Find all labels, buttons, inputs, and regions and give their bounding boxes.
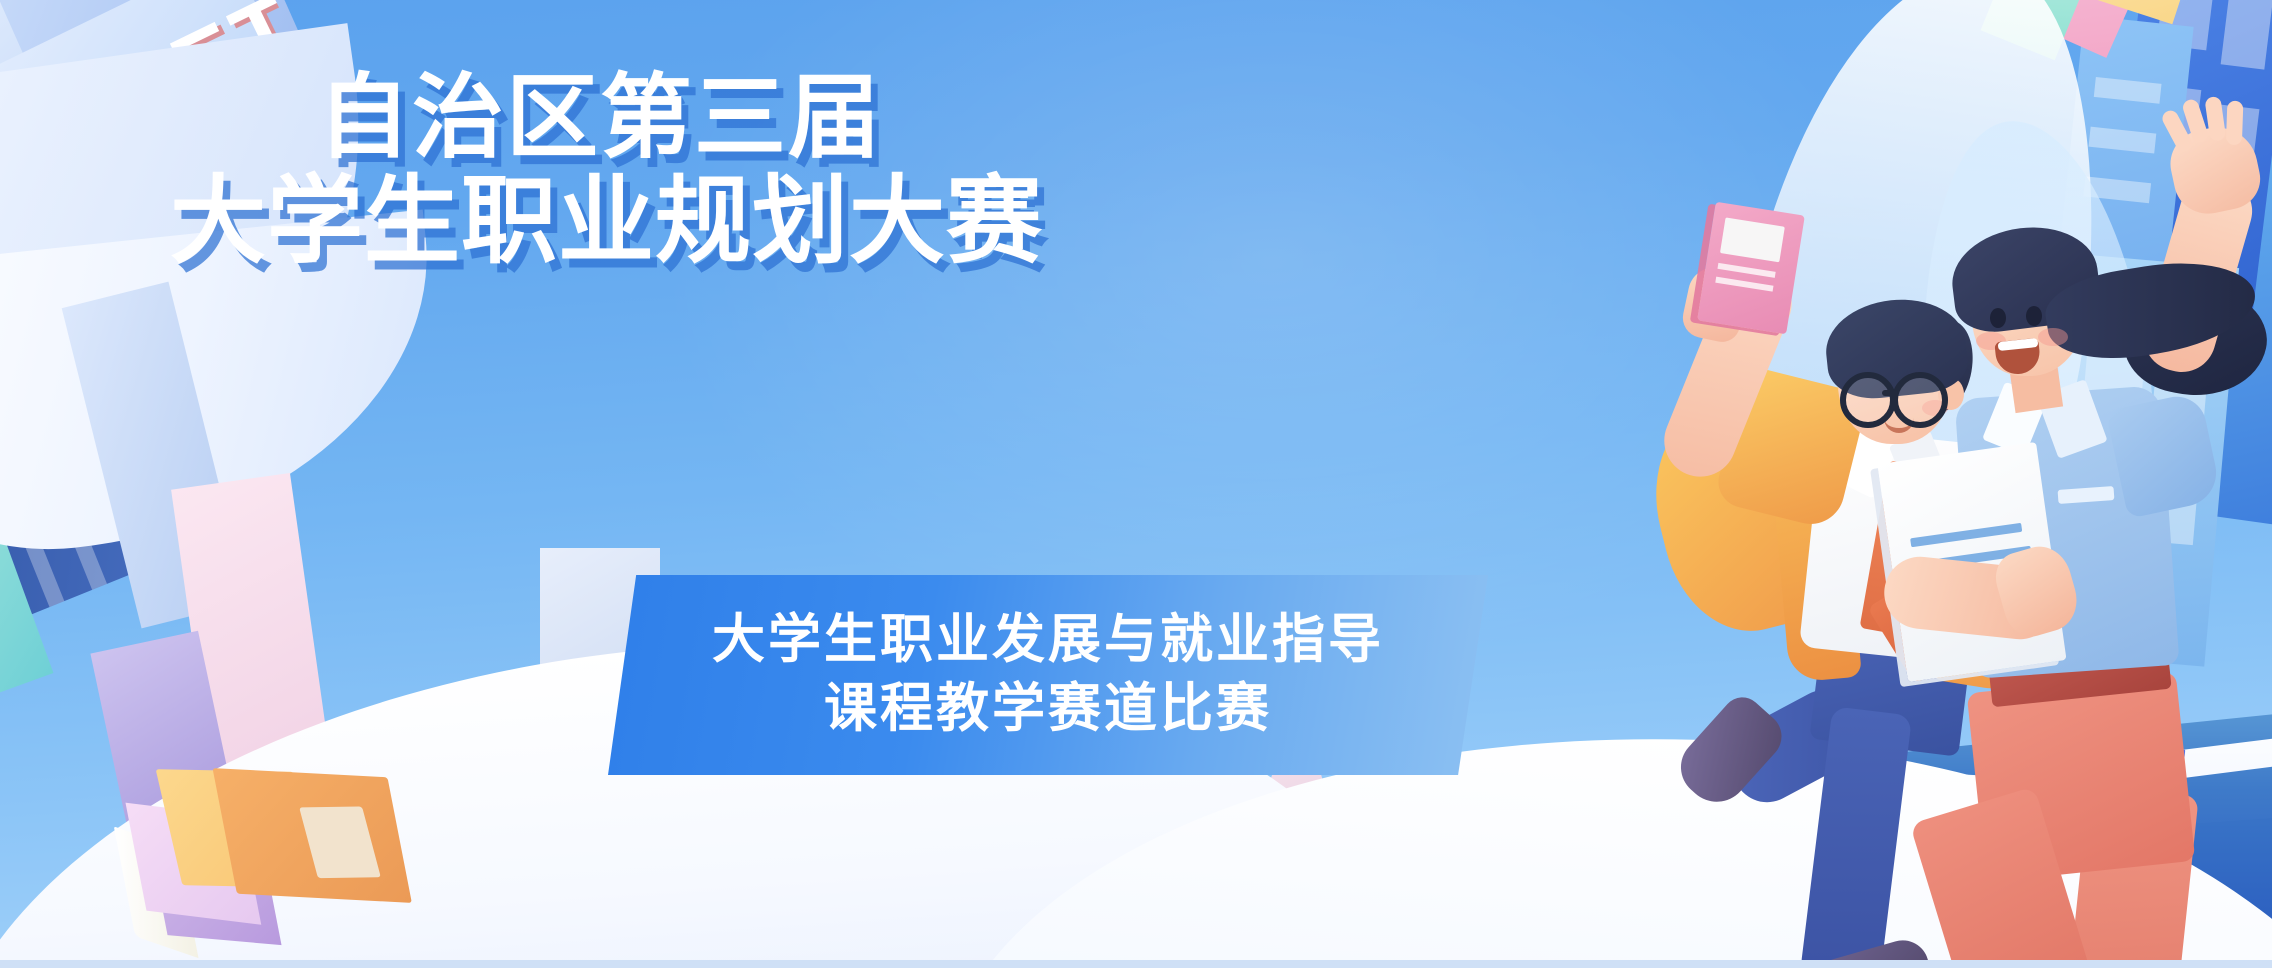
headline-line-1: 自治区第三届 [170, 70, 1030, 166]
book-line-1 [1717, 263, 1775, 278]
book-line-2 [1715, 277, 1773, 292]
headline-group: 自治区第三届 大学生职业规划大赛 [170, 70, 1030, 272]
subtitle-text-group: 大学生职业发展与就业指导 课程教学赛道比赛 [608, 575, 1488, 775]
book-label [1720, 217, 1785, 262]
female-blush-right [2038, 328, 2068, 346]
figure-female-student [1880, 100, 2272, 960]
female-eye-left [1990, 308, 2006, 328]
subtitle-line-2: 课程教学赛道比赛 [824, 678, 1272, 741]
banner-canvas: MARKET [0, 0, 2272, 968]
female-eye-right [2026, 306, 2042, 326]
male-held-book [1697, 202, 1805, 335]
bottom-edge-line [0, 960, 2272, 968]
headline-line-2: 大学生职业规划大赛 [170, 172, 1030, 272]
subtitle-banner: 大学生职业发展与就业指导 课程教学赛道比赛 [608, 575, 1488, 775]
subtitle-line-1: 大学生职业发展与就业指导 [712, 609, 1384, 672]
